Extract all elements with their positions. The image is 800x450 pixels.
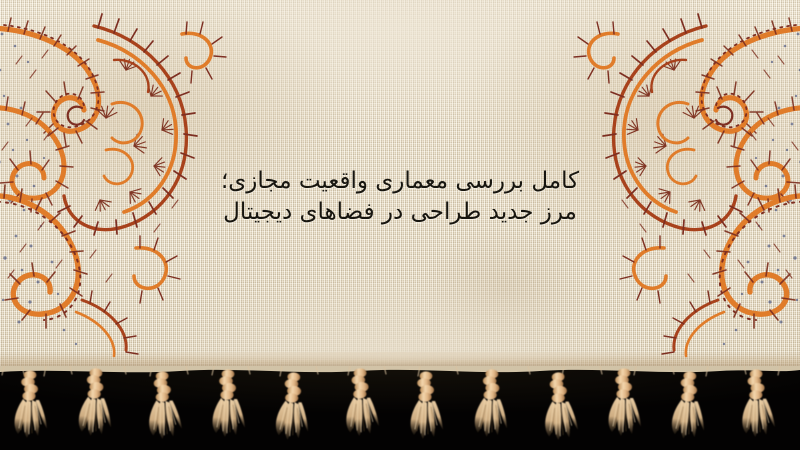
- slide-canvas: کامل بررسی معماری واقعیت مجازی؛ مرز جدید…: [0, 0, 800, 450]
- bottom-dark-band: [0, 366, 800, 450]
- slide-title: کامل بررسی معماری واقعیت مجازی؛ مرز جدید…: [0, 166, 800, 228]
- title-line-2: مرز جدید طراحی در فضاهای دیجیتال: [0, 197, 800, 228]
- title-line-1: کامل بررسی معماری واقعیت مجازی؛: [0, 166, 800, 197]
- knotted-tassel-fringe: [0, 366, 800, 450]
